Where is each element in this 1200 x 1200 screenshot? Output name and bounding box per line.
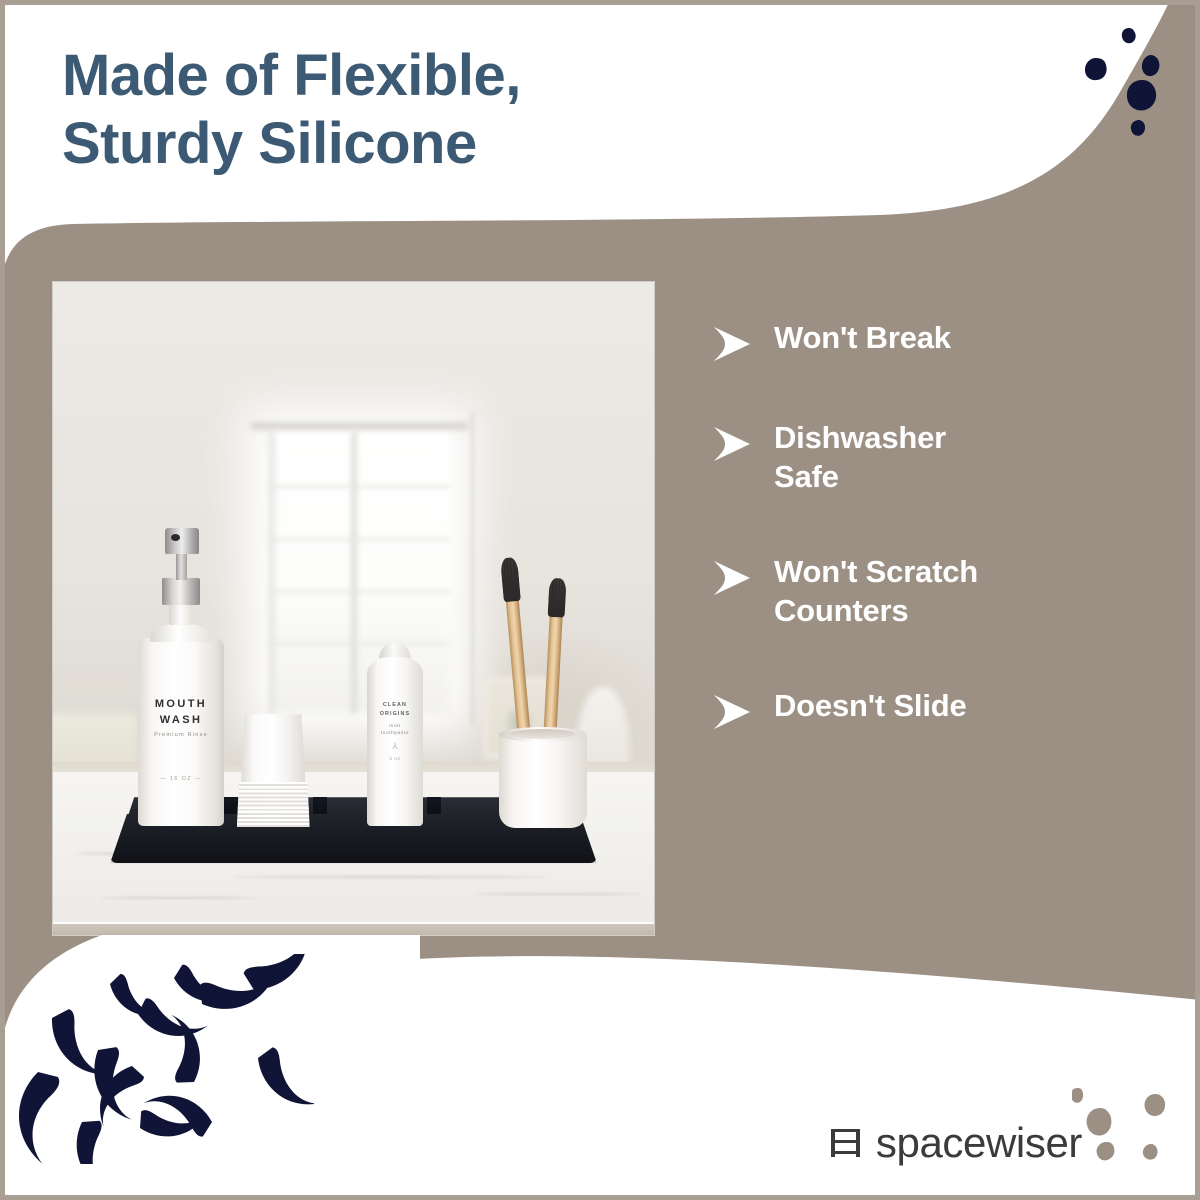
marble-vein bbox=[101, 897, 257, 899]
product-photo: MOUTH WASH Premium Rinse — 16 OZ — CLEAN… bbox=[53, 282, 654, 935]
list-item: Won't Break bbox=[712, 318, 1132, 362]
page-title: Made of Flexible, Sturdy Silicone bbox=[62, 42, 762, 179]
window-slat bbox=[269, 641, 449, 646]
headline-line-2: Sturdy Silicone bbox=[62, 110, 762, 178]
navy-crescents-decoration bbox=[14, 954, 314, 1164]
window-slat bbox=[269, 537, 449, 542]
bottle-title: MOUTH WASH bbox=[138, 697, 223, 729]
arrow-right-icon bbox=[712, 694, 756, 730]
feature-list: Won't Break Dishwasher Safe Won't Scratc… bbox=[712, 318, 1132, 730]
list-item-label: Won't Scratch Counters bbox=[756, 552, 978, 630]
list-item-label: Doesn't Slide bbox=[756, 686, 967, 725]
shelf-icon bbox=[829, 1126, 863, 1160]
window-light-icon bbox=[269, 432, 449, 713]
wall-edge bbox=[471, 413, 474, 726]
toothbrush-holder bbox=[499, 732, 587, 828]
window-slat bbox=[269, 589, 449, 594]
arrow-right-icon bbox=[712, 326, 756, 362]
window-slat bbox=[269, 484, 449, 489]
toothbrush-bristles bbox=[548, 578, 567, 618]
list-item-label: Dishwasher Safe bbox=[756, 418, 946, 496]
tube-description: mint toothpaste bbox=[367, 723, 422, 737]
list-item: Won't Scratch Counters bbox=[712, 552, 1132, 630]
marble-vein bbox=[474, 893, 642, 895]
arrow-right-icon bbox=[712, 560, 756, 596]
window-mullion bbox=[351, 432, 357, 713]
brand-name: spacewiser bbox=[876, 1122, 1082, 1164]
bottle-title-line-1: MOUTH bbox=[138, 697, 223, 713]
bottle-neck bbox=[169, 602, 193, 626]
arrow-right-icon bbox=[712, 426, 756, 462]
tube-brand-line-2: ORIGINS bbox=[367, 710, 422, 718]
pump-collar bbox=[162, 578, 199, 605]
tube-label: CLEAN ORIGINS mint toothpaste ⅄ 3 oz bbox=[367, 701, 422, 761]
bottle-label: MOUTH WASH Premium Rinse bbox=[138, 697, 223, 756]
list-item-label: Won't Break bbox=[756, 318, 951, 357]
marble-vein bbox=[233, 876, 546, 878]
leaf-icon: ⅄ bbox=[367, 742, 422, 751]
pump-head bbox=[165, 528, 199, 554]
tube-desc-line-1: mint bbox=[367, 723, 422, 730]
window-header-trim bbox=[251, 422, 467, 430]
tube-brand: CLEAN ORIGINS bbox=[367, 701, 422, 718]
counter-front-edge bbox=[53, 924, 654, 935]
infographic-canvas: Made of Flexible, Sturdy Silicone bbox=[0, 0, 1200, 1200]
bottle-volume: — 16 OZ — bbox=[138, 776, 223, 782]
bottle-subtitle: Premium Rinse bbox=[138, 732, 223, 738]
tube-desc-line-2: toothpaste bbox=[367, 730, 422, 737]
bottle-title-line-2: WASH bbox=[138, 713, 223, 729]
pump-nozzle bbox=[171, 534, 180, 541]
tube-brand-line-1: CLEAN bbox=[367, 701, 422, 709]
taupe-dots-decoration bbox=[1072, 1066, 1192, 1196]
brand-logo: spacewiser bbox=[829, 1122, 1082, 1164]
list-item: Doesn't Slide bbox=[712, 686, 1132, 730]
navy-dots-decoration bbox=[1060, 0, 1200, 150]
paper-cup-stack-rims bbox=[237, 782, 310, 828]
pump-stem bbox=[176, 551, 187, 580]
list-item: Dishwasher Safe bbox=[712, 418, 1132, 496]
paper-cup-stack-top bbox=[241, 714, 305, 783]
tube-volume: 3 oz bbox=[367, 756, 422, 761]
headline-line-1: Made of Flexible, bbox=[62, 42, 762, 110]
